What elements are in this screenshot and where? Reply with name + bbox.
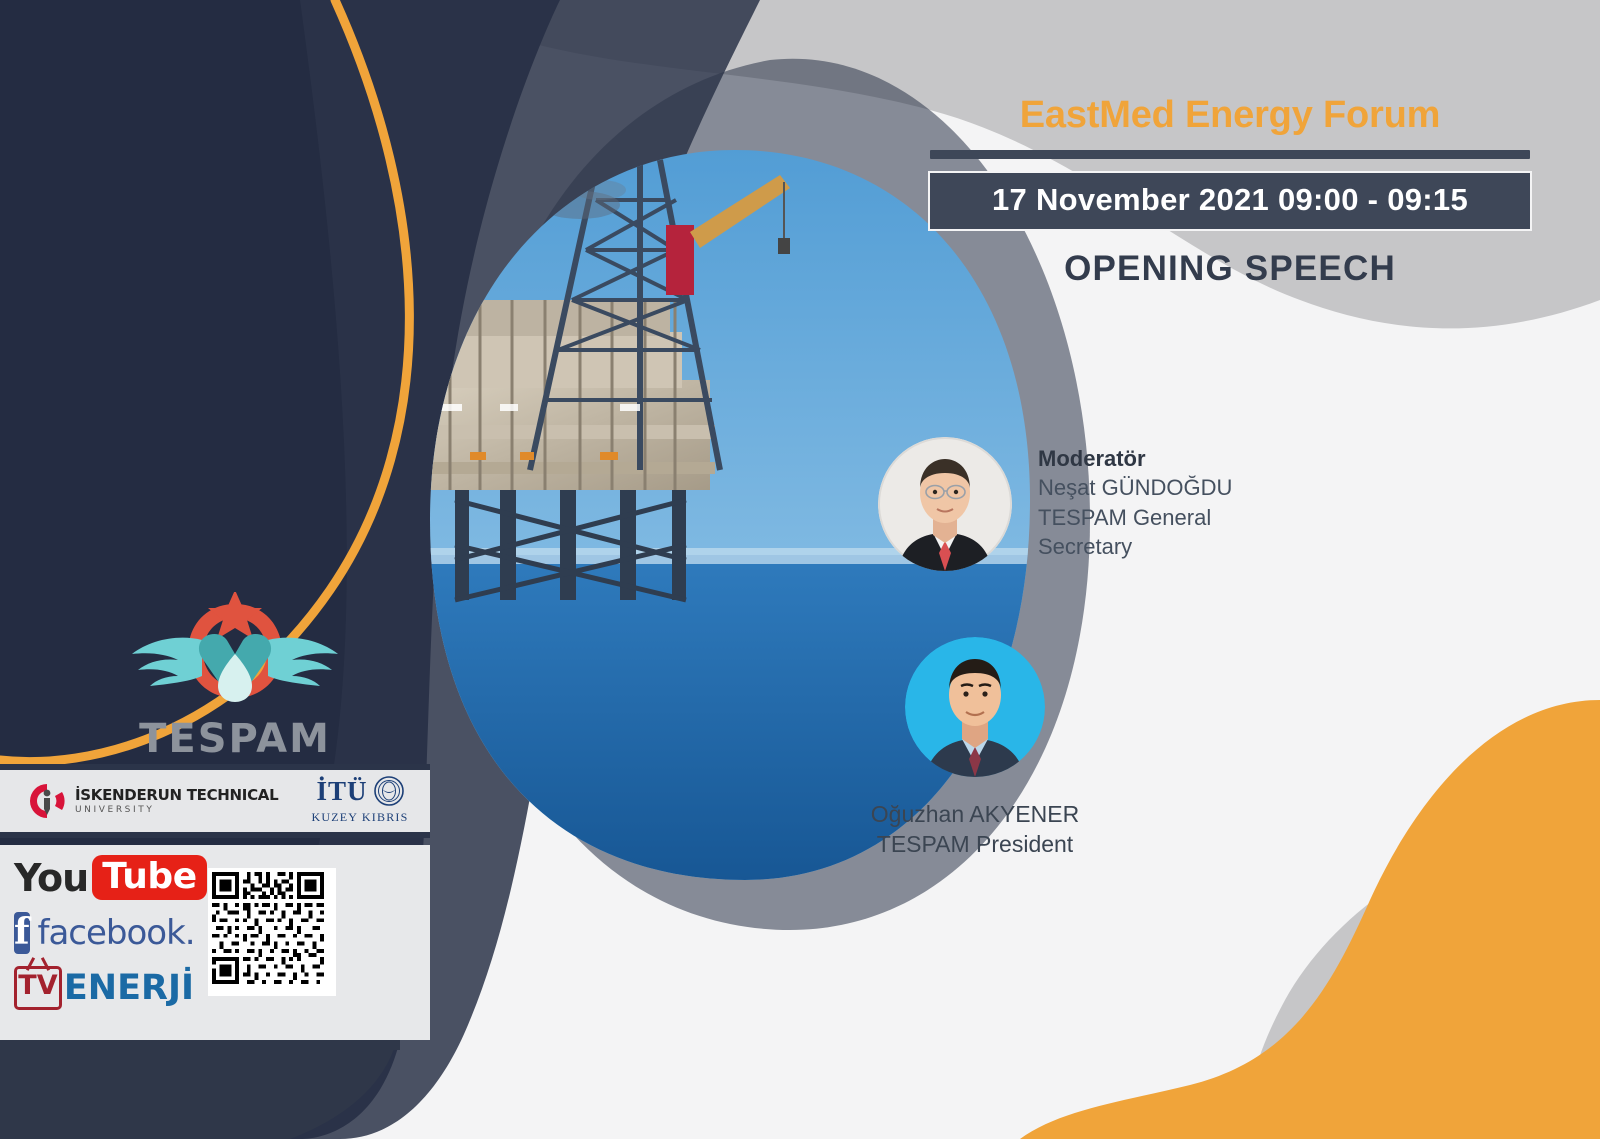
title-divider xyxy=(930,150,1530,159)
tvenerji-word: ENERJİ xyxy=(64,968,194,1008)
facebook-f-icon: f xyxy=(14,912,30,954)
facebook-word: facebook. xyxy=(38,913,195,953)
facebook-logo[interactable]: f facebook. xyxy=(14,912,194,954)
moderator-name: Neşat GÜNDOĞDU xyxy=(1038,473,1232,502)
speaker-avatar xyxy=(905,637,1045,777)
youtube-logo[interactable]: You Tube xyxy=(14,855,194,900)
moderator-affiliation-line2: Secretary xyxy=(1038,532,1232,561)
youtube-word-tube: Tube xyxy=(92,855,206,900)
moderator-affiliation-line1: TESPAM General xyxy=(1038,503,1232,532)
speaker-name: Oğuzhan AKYENER xyxy=(820,799,1130,829)
iste-mark-icon xyxy=(28,782,66,820)
iste-subtitle: UNIVERSITY xyxy=(75,806,278,815)
youtube-word-you: You xyxy=(14,856,88,900)
itu-kuzey-kibris-logo: İTÜ KUZEY KIBRIS xyxy=(300,776,420,825)
page-title: EastMed Energy Forum xyxy=(930,96,1530,136)
poster-canvas: EastMed Energy Forum 17 November 2021 09… xyxy=(0,0,1600,1139)
iste-name: İSKENDERUN TECHNICAL xyxy=(75,788,278,803)
qr-code[interactable] xyxy=(208,868,336,996)
itu-seal-icon xyxy=(374,776,404,806)
itu-subtitle: KUZEY KIBRIS xyxy=(300,810,420,825)
uni-bar-bottom-divider xyxy=(0,832,430,838)
speaker-role: TESPAM President xyxy=(820,829,1130,859)
qr-code-icon xyxy=(212,872,324,984)
uni-bar-top-divider xyxy=(0,764,430,770)
iskenderun-technical-university-logo: İSKENDERUN TECHNICAL UNIVERSITY xyxy=(28,782,278,820)
session-title: OPENING SPEECH xyxy=(930,249,1530,289)
header-block: EastMed Energy Forum 17 November 2021 09… xyxy=(930,96,1530,289)
tespam-wordmark: TESPAM xyxy=(110,716,360,762)
moderator-role-label: Moderatör xyxy=(1038,444,1232,473)
moderator-info: Moderatör Neşat GÜNDOĞDU TESPAM General … xyxy=(1038,437,1232,561)
tvenerji-logo[interactable]: TV ENERJİ xyxy=(14,966,194,1010)
moderator-block: Moderatör Neşat GÜNDOĞDU TESPAM General … xyxy=(878,437,1232,571)
speaker-block: Oğuzhan AKYENER TESPAM President xyxy=(820,637,1130,860)
university-logo-bar: İSKENDERUN TECHNICAL UNIVERSITY İTÜ KUZE… xyxy=(0,770,430,832)
date-time-badge: 17 November 2021 09:00 - 09:15 xyxy=(930,173,1530,229)
moderator-avatar xyxy=(878,437,1012,571)
tv-set-icon: TV xyxy=(14,966,62,1010)
tespam-logo: TESPAM xyxy=(110,592,360,764)
itu-name: İTÜ xyxy=(316,778,367,805)
